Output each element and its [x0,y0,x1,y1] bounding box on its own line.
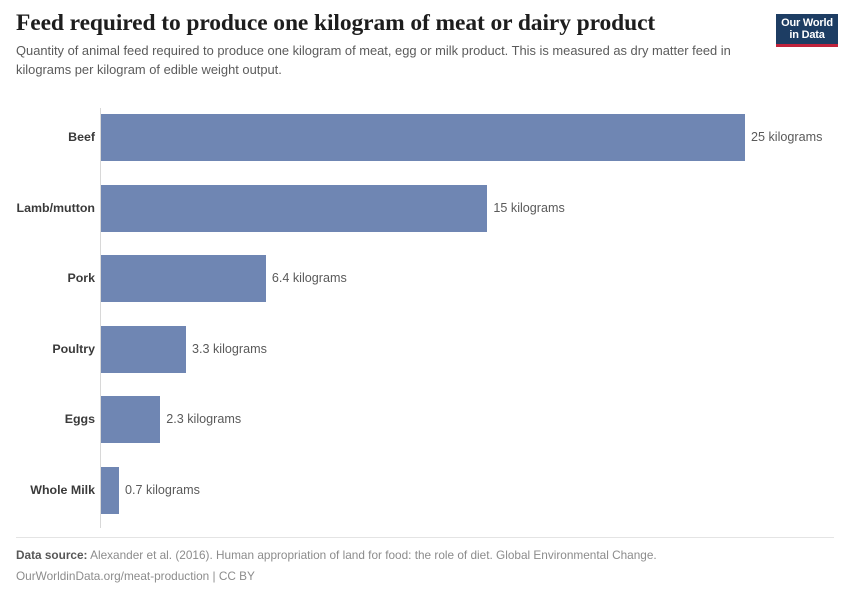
bar-category-label: Beef [0,114,95,161]
y-axis-line [100,108,101,528]
bar-row: Beef25 kilograms [0,114,850,161]
bar-value-label: 6.4 kilograms [272,255,347,302]
bar-category-label: Lamb/mutton [0,185,95,232]
chart-header: Feed required to produce one kilogram of… [16,10,756,79]
bar-value-label: 3.3 kilograms [192,326,267,373]
plot-area: Beef25 kilogramsLamb/mutton15 kilogramsP… [0,108,850,528]
bar-category-label: Eggs [0,396,95,443]
chart-subtitle: Quantity of animal feed required to prod… [16,42,746,79]
bar-row: Whole Milk0.7 kilograms [0,467,850,514]
bar-row: Poultry3.3 kilograms [0,326,850,373]
logo-line-2: in Data [780,30,834,42]
chart-root: Feed required to produce one kilogram of… [0,0,850,600]
page-title: Feed required to produce one kilogram of… [16,10,756,36]
bar-value-label: 0.7 kilograms [125,467,200,514]
bar[interactable] [101,396,160,443]
bar[interactable] [101,185,487,232]
bar[interactable] [101,326,186,373]
bar[interactable] [101,114,745,161]
chart-footer: Data source: Alexander et al. (2016). Hu… [16,546,816,586]
attribution-line[interactable]: OurWorldinData.org/meat-production | CC … [16,567,816,585]
bar-row: Lamb/mutton15 kilograms [0,185,850,232]
bar[interactable] [101,467,119,514]
bar-category-label: Pork [0,255,95,302]
bar-value-label: 15 kilograms [493,185,564,232]
our-world-in-data-logo[interactable]: Our World in Data [776,14,838,47]
data-source-label: Data source: [16,548,87,562]
bar-value-label: 2.3 kilograms [166,396,241,443]
bar-category-label: Whole Milk [0,467,95,514]
bar-row: Eggs2.3 kilograms [0,396,850,443]
bar-row: Pork6.4 kilograms [0,255,850,302]
footer-divider [16,537,834,538]
bar[interactable] [101,255,266,302]
bar-value-label: 25 kilograms [751,114,822,161]
bar-category-label: Poultry [0,326,95,373]
data-source-line: Data source: Alexander et al. (2016). Hu… [16,546,816,564]
data-source-text: Alexander et al. (2016). Human appropria… [90,548,657,562]
logo-line-1: Our World [780,18,834,30]
